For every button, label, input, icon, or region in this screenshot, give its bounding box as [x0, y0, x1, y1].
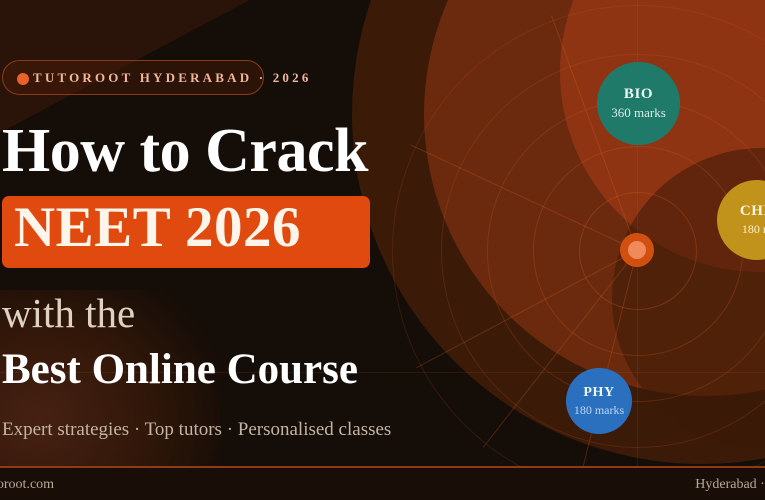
hub-center-dot [628, 241, 646, 259]
promo-poster: BIO 360 marks CHE 180 m PHY 180 marks TU… [0, 0, 765, 500]
badge-dot-icon [17, 73, 29, 85]
footer-website[interactable]: utoroot.com [0, 477, 54, 493]
footer-location: Hyderabad · Ind [695, 477, 765, 493]
tagline-text: Expert strategies · Top tutors · Persona… [2, 419, 391, 441]
subject-bubble-che[interactable]: CHE 180 m [717, 180, 765, 260]
badge-label: TUTOROOT HYDERABAD · 2026 [33, 70, 312, 86]
subject-bubble-phy-name: PHY [583, 386, 614, 401]
orbit-spoke [410, 144, 637, 251]
headline-line-1: How to Crack [2, 116, 368, 187]
headline-line-4: Best Online Course [2, 345, 358, 394]
subject-bubble-bio-marks: 360 marks [611, 106, 666, 120]
headline-highlight-text: NEET 2026 [14, 195, 301, 260]
subject-bubble-phy-marks: 180 marks [574, 404, 624, 417]
subject-bubble-che-name: CHE [740, 204, 765, 220]
subject-bubble-bio-name: BIO [624, 87, 653, 103]
brand-badge[interactable]: TUTOROOT HYDERABAD · 2026 [2, 60, 264, 95]
subject-bubble-che-marks: 180 m [742, 223, 765, 236]
background-circle-outer [352, 0, 765, 464]
subject-bubble-bio[interactable]: BIO 360 marks [597, 62, 680, 145]
background-circle-middle [424, 0, 765, 396]
subject-bubble-phy[interactable]: PHY 180 marks [566, 368, 632, 434]
footer-bar [0, 468, 765, 500]
orbit-spoke [416, 250, 637, 368]
headline-line-3: with the [2, 289, 135, 337]
